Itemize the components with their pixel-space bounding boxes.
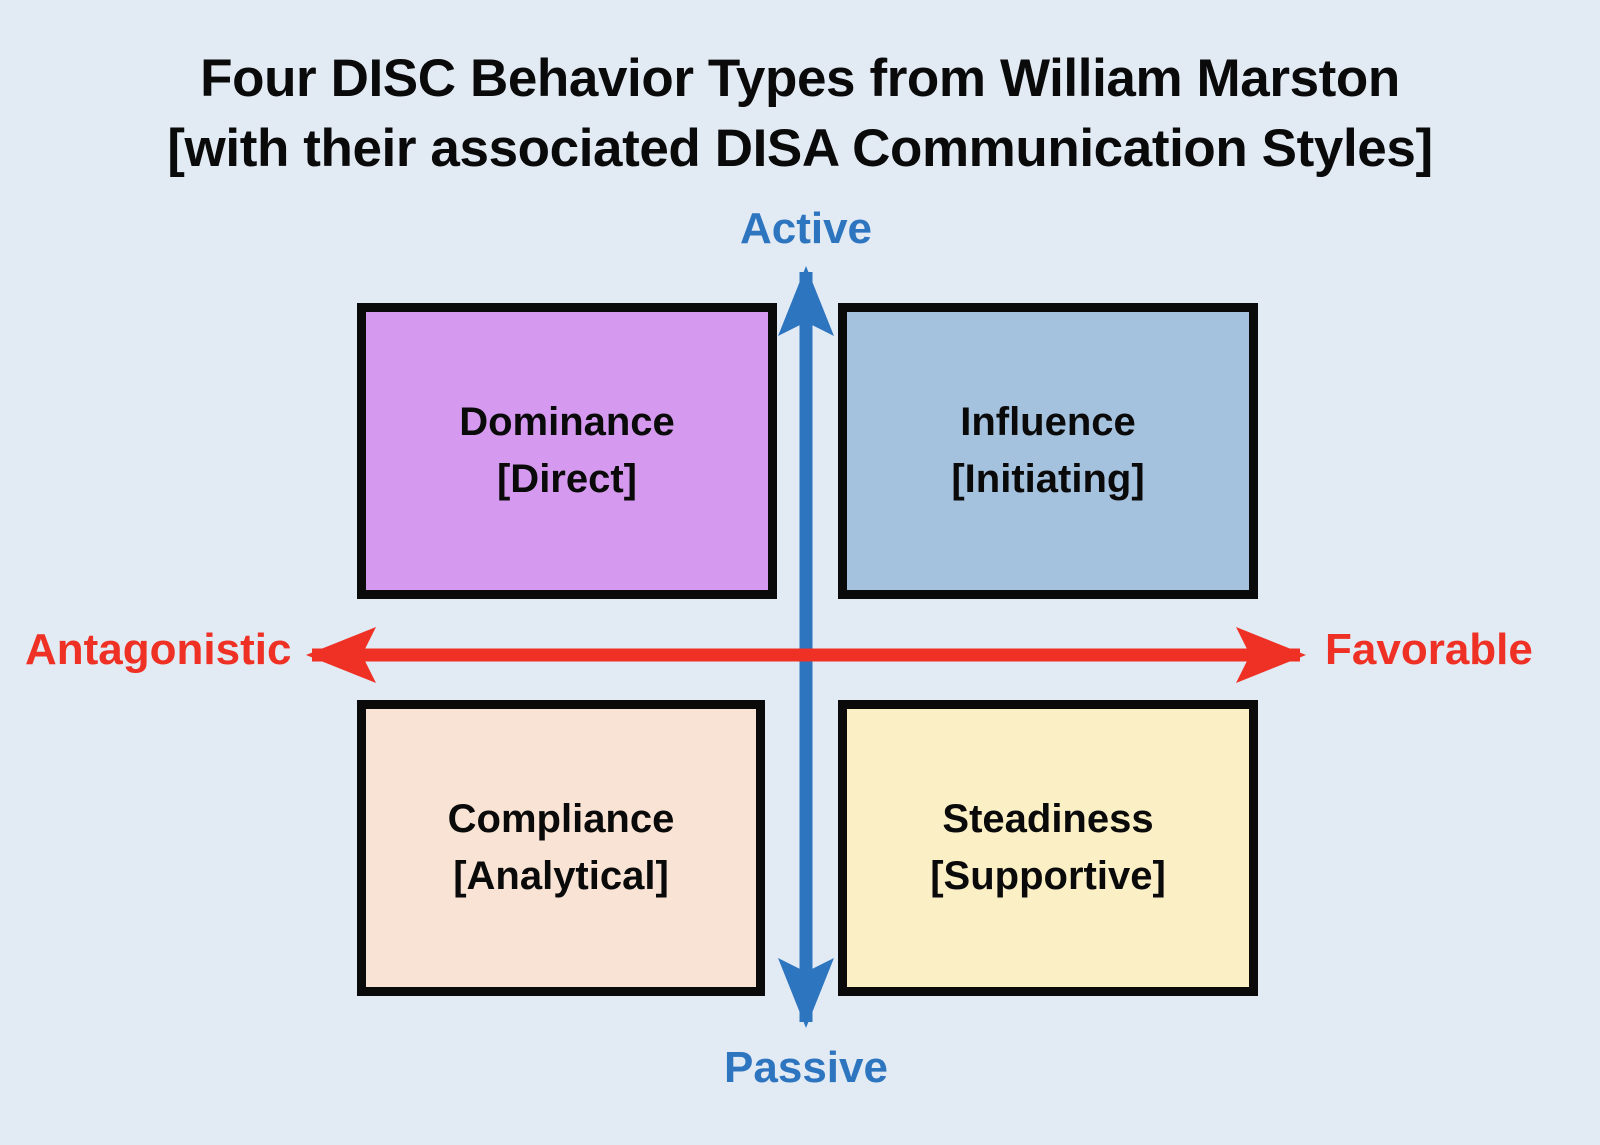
axis-label-favorable: Favorable	[1325, 628, 1533, 672]
quadrant-title: Dominance	[459, 394, 675, 451]
quadrant-style: [Direct]	[497, 451, 637, 508]
horizontal-axis-arrow	[306, 627, 1306, 683]
vertical-axis-arrow	[778, 266, 834, 1028]
quadrant-style: [Analytical]	[453, 848, 669, 905]
axis-label-antagonistic: Antagonistic	[25, 628, 291, 672]
quadrant-compliance[interactable]: Compliance [Analytical]	[357, 700, 765, 996]
quadrant-steadiness[interactable]: Steadiness [Supportive]	[838, 700, 1258, 996]
disc-quadrant-diagram: Four DISC Behavior Types from William Ma…	[0, 0, 1600, 1145]
quadrant-style: [Supportive]	[930, 848, 1166, 905]
quadrant-style: [Initiating]	[951, 451, 1144, 508]
quadrant-dominance[interactable]: Dominance [Direct]	[357, 303, 777, 599]
page-title: Four DISC Behavior Types from William Ma…	[0, 44, 1600, 184]
quadrant-title: Steadiness	[942, 791, 1153, 848]
axis-label-passive: Passive	[606, 1046, 1006, 1090]
axis-label-active: Active	[606, 207, 1006, 251]
quadrant-influence[interactable]: Influence [Initiating]	[838, 303, 1258, 599]
title-line-1: Four DISC Behavior Types from William Ma…	[0, 44, 1600, 114]
quadrant-title: Compliance	[448, 791, 675, 848]
title-line-2: [with their associated DISA Communicatio…	[0, 114, 1600, 184]
quadrant-title: Influence	[960, 394, 1136, 451]
